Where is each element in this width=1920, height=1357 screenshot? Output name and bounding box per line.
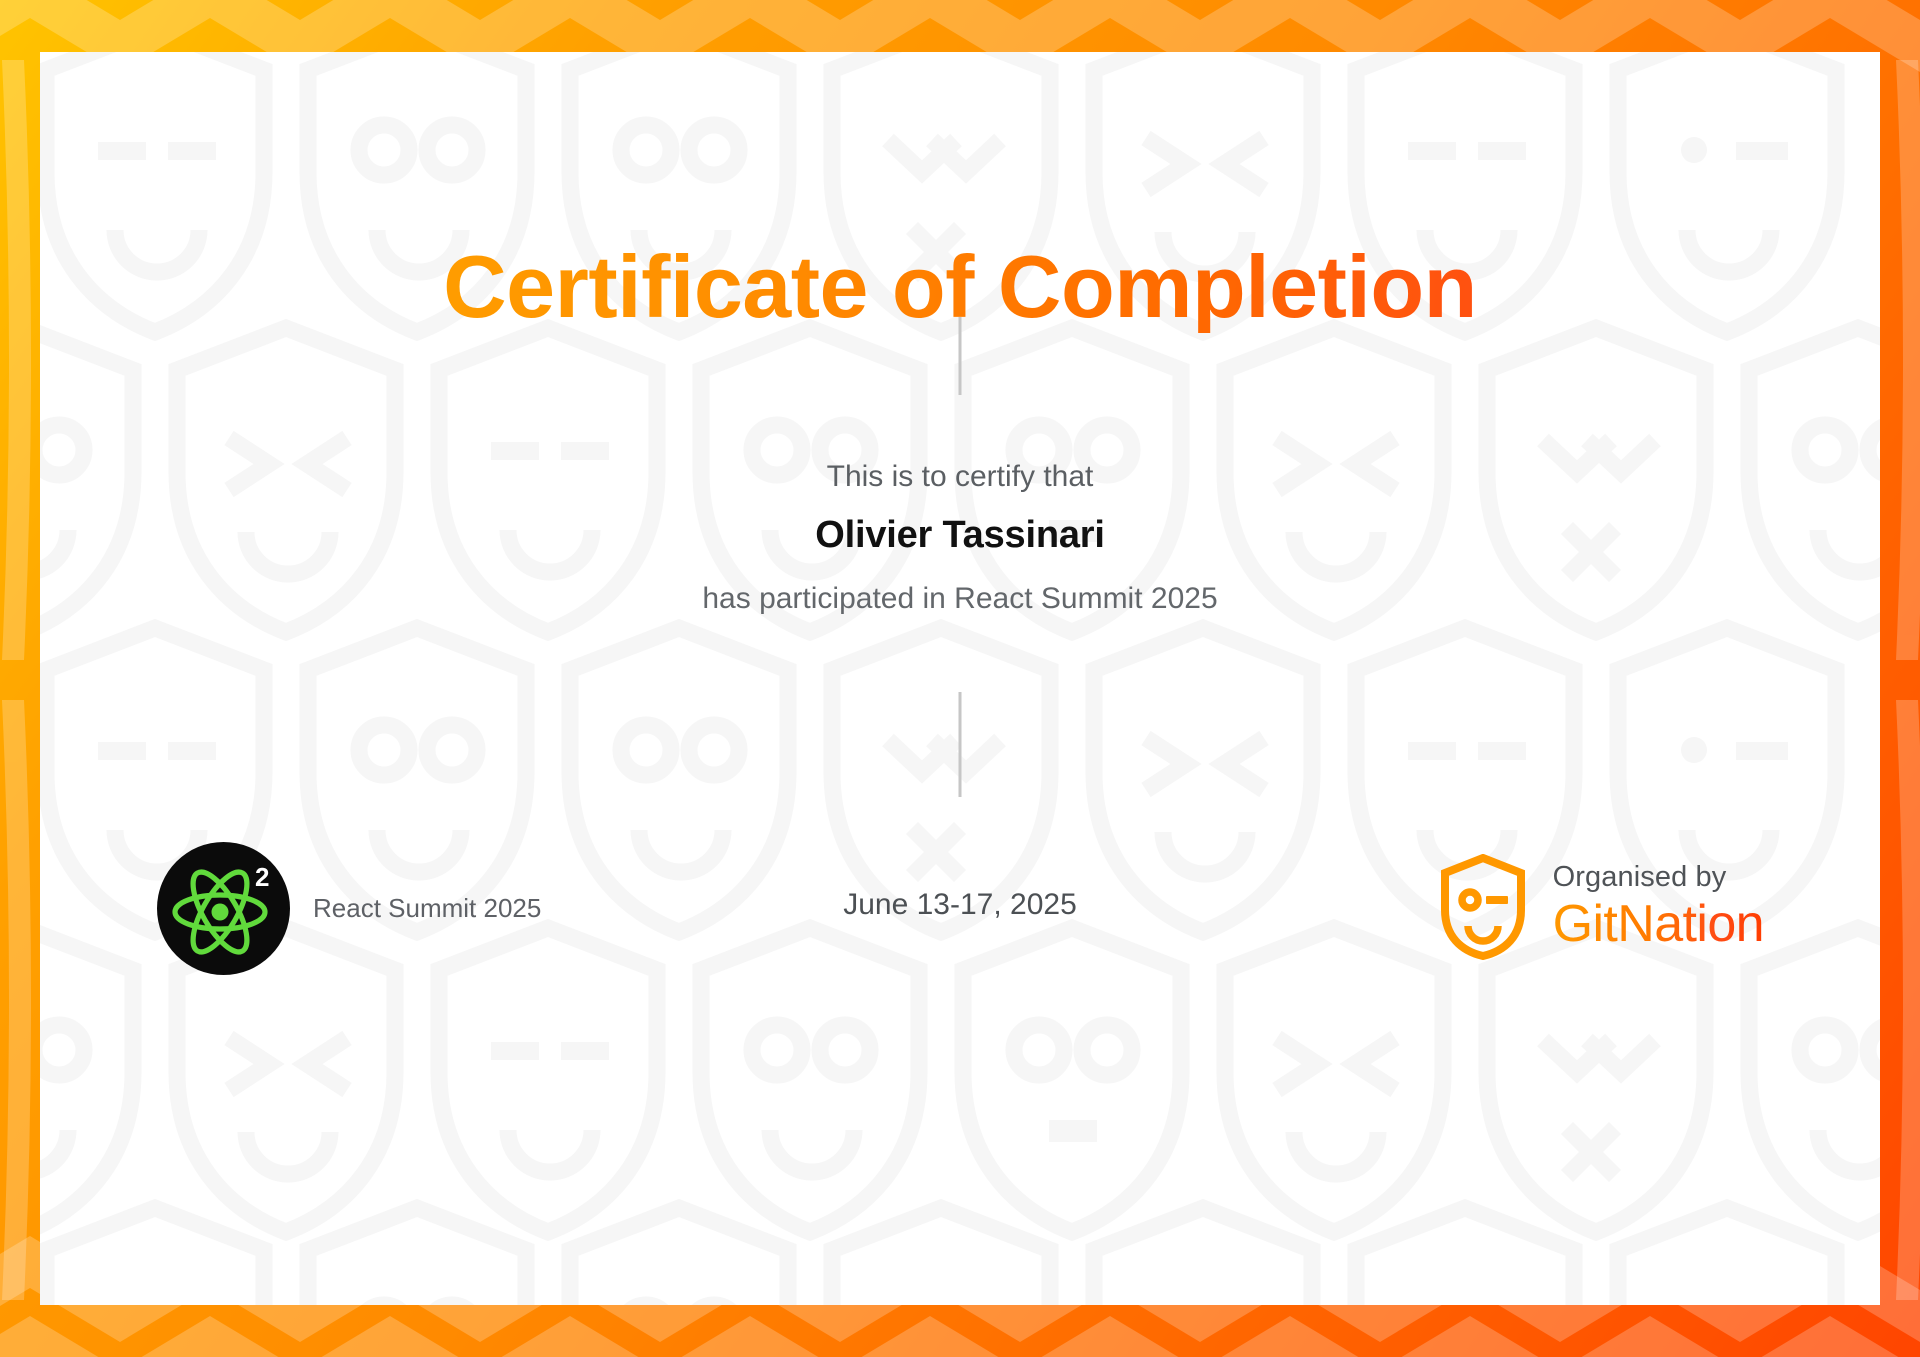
certificate-frame: Certificate of Completion This is to cer… [0,0,1920,1357]
participation-line: has participated in React Summit 2025 [40,582,1880,616]
divider-top [959,317,962,395]
certificate-card: Certificate of Completion This is to cer… [40,52,1880,1305]
organiser-lockup: Organised by GitNation [1439,854,1764,960]
certificate-footer: 2 React Summit 2025 June 13-17, 2025 [40,842,1880,982]
certify-line: This is to certify that [40,460,1880,494]
divider-bottom [959,692,962,797]
gitnation-shield-icon [1439,854,1527,960]
organiser-name: GitNation [1553,897,1764,952]
organiser-label: Organised by [1553,862,1764,892]
recipient-name: Olivier Tassinari [40,514,1880,557]
